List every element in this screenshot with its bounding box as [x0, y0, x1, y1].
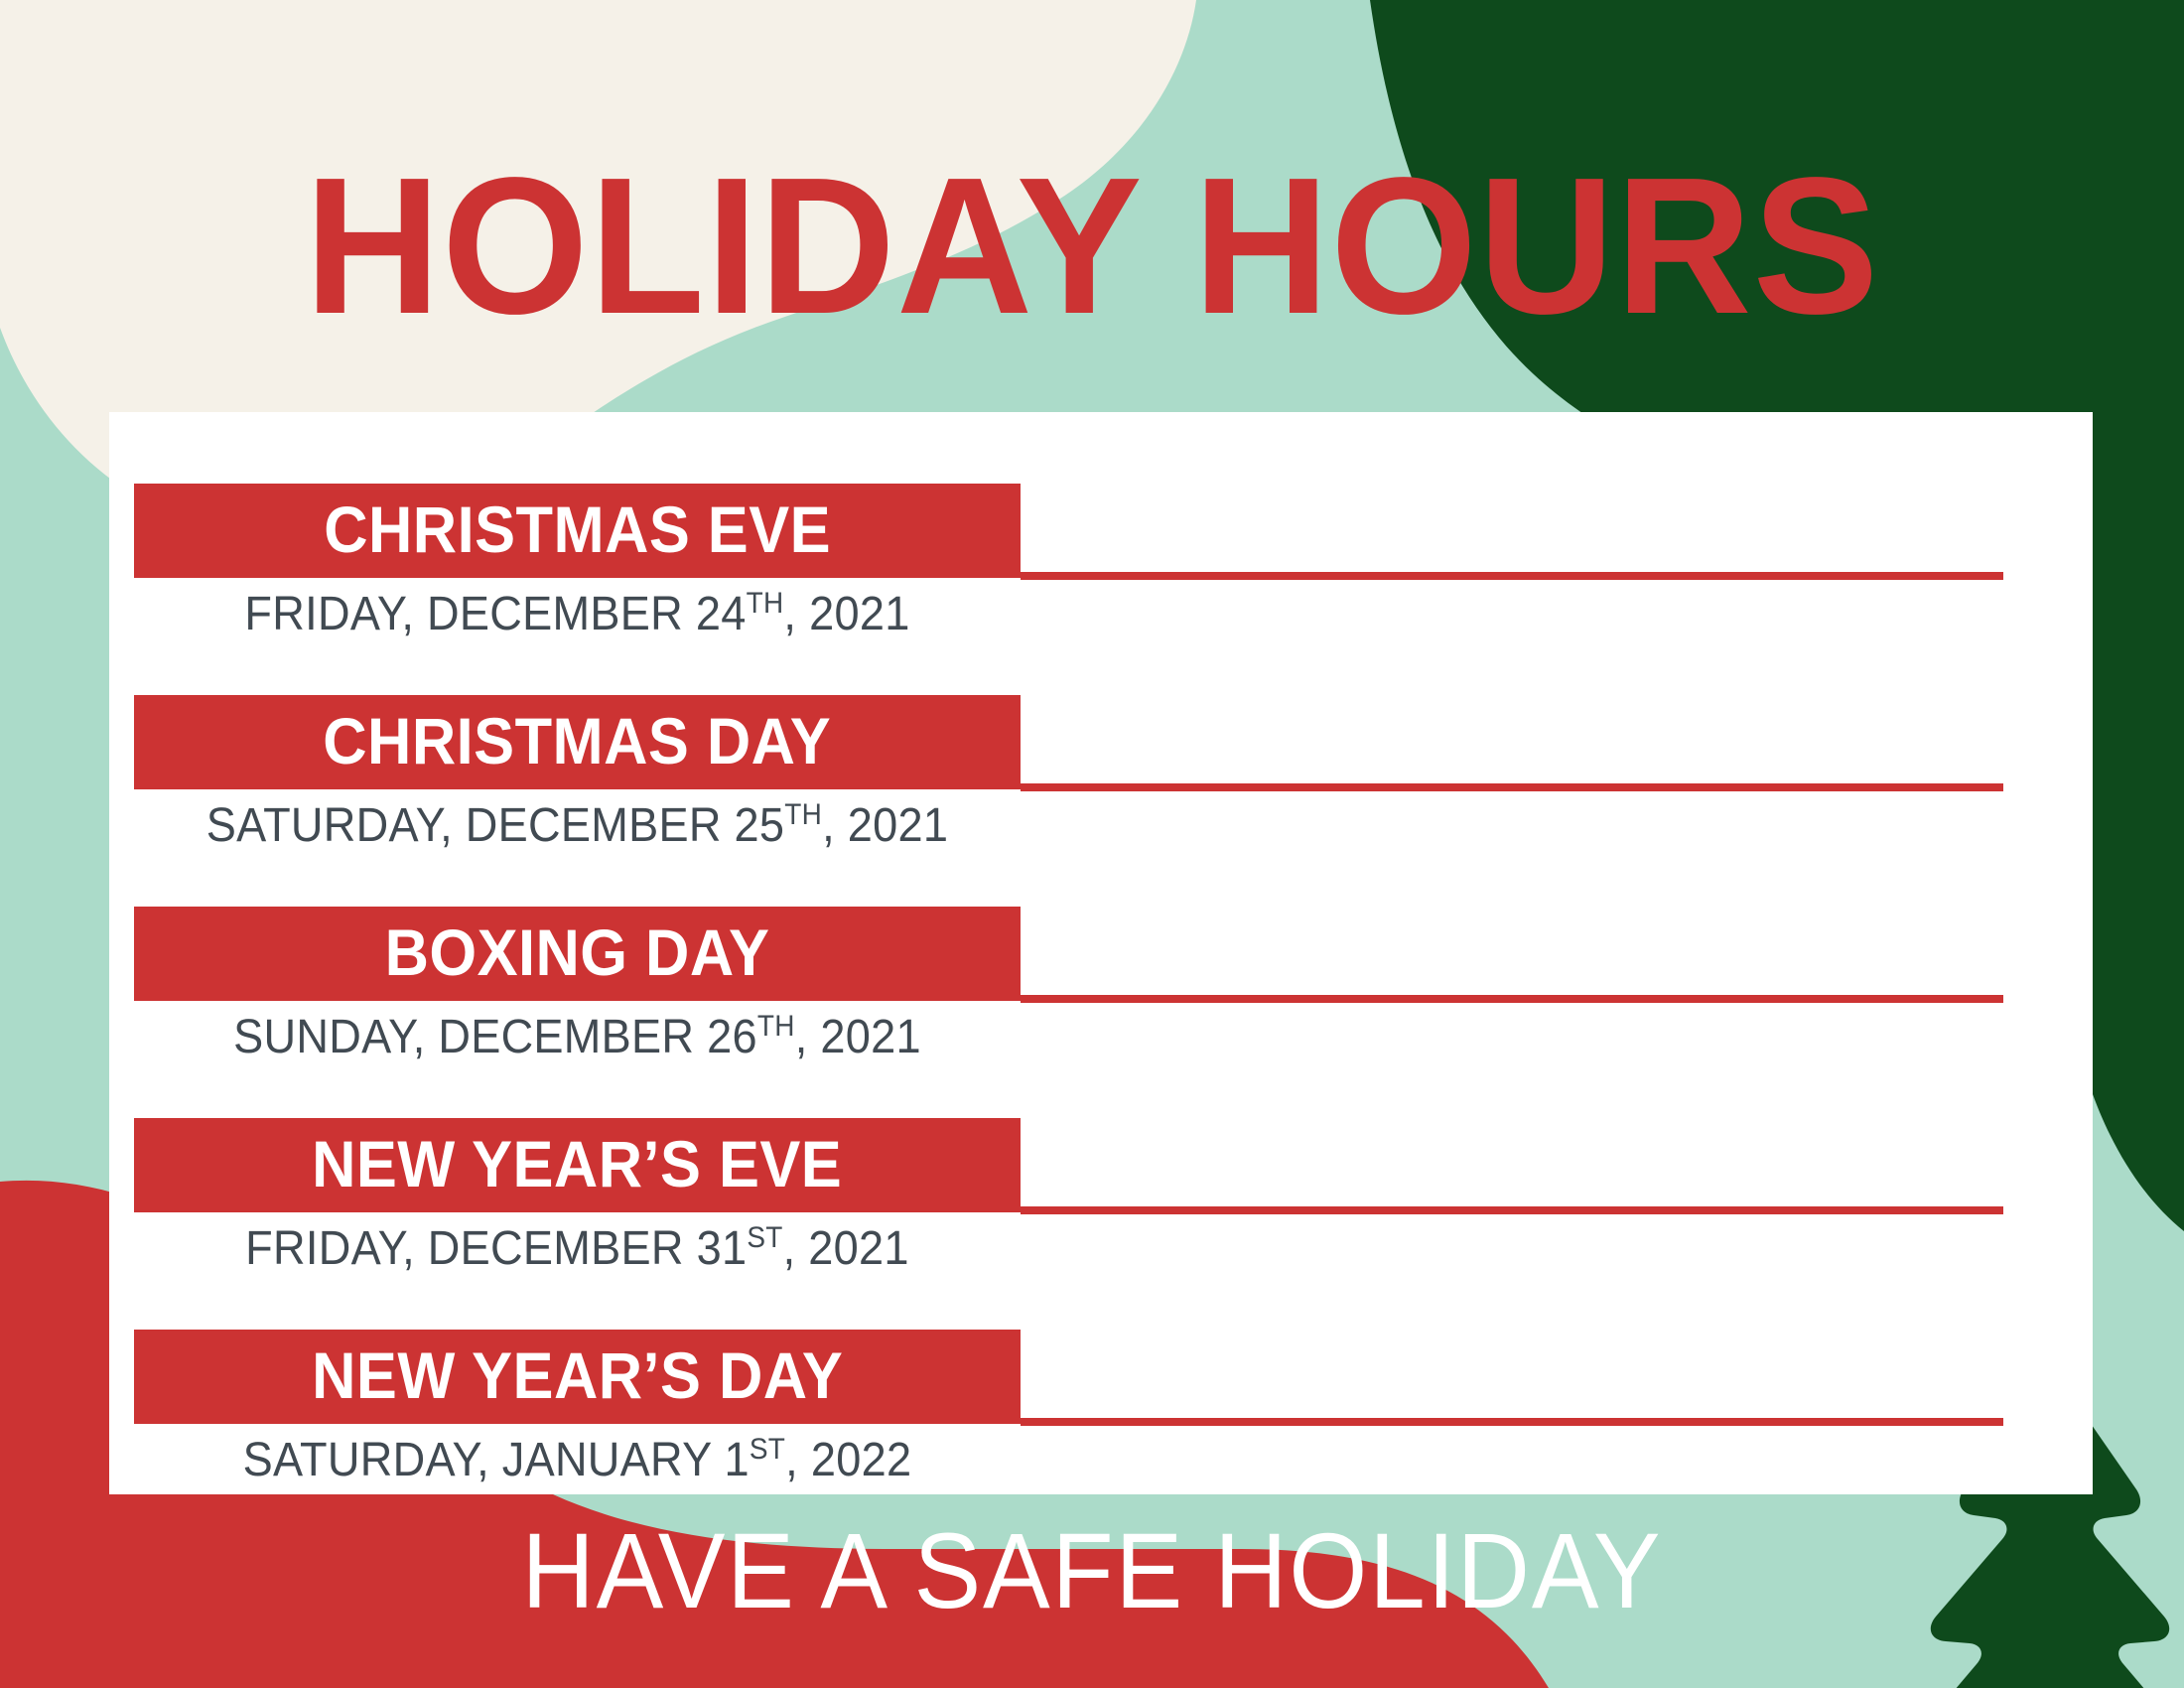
hours-write-in-line — [1021, 783, 2003, 791]
holiday-banner: CHRISTMAS DAY — [134, 695, 1021, 789]
holiday-date-ordinal: ST — [750, 1433, 785, 1466]
holiday-banner: NEW YEAR’S EVE — [134, 1118, 1021, 1212]
holiday-date-prefix: SATURDAY, DECEMBER 25 — [206, 799, 785, 852]
holiday-banner: BOXING DAY — [134, 907, 1021, 1001]
page-title: HOLIDAY HOURS — [33, 149, 2151, 344]
holiday-date-prefix: FRIDAY, DECEMBER 31 — [245, 1222, 747, 1275]
hours-write-in-line — [1021, 572, 2003, 580]
holiday-name: CHRISTMAS DAY — [324, 708, 832, 774]
holiday-date-suffix: , 2021 — [783, 588, 909, 640]
holiday-banner: CHRISTMAS EVE — [134, 484, 1021, 578]
holiday-name: BOXING DAY — [385, 919, 770, 985]
holiday-date-suffix: , 2021 — [783, 1222, 909, 1275]
holiday-name: NEW YEAR’S EVE — [312, 1131, 842, 1196]
tagline: HAVE A SAFE HOLIDAY — [66, 1517, 2118, 1624]
holiday-date-prefix: SUNDAY, DECEMBER 26 — [233, 1011, 757, 1063]
holiday-date-prefix: SATURDAY, JANUARY 1 — [243, 1434, 750, 1486]
holiday-date: FRIDAY, DECEMBER 31ST, 2021 — [161, 1221, 994, 1276]
holiday-date-ordinal: TH — [757, 1010, 795, 1043]
hours-write-in-line — [1021, 1418, 2003, 1426]
holiday-hours-poster: HOLIDAY HOURS CHRISTMAS EVE FRIDAY, DECE… — [0, 0, 2184, 1688]
holiday-date: FRIDAY, DECEMBER 24TH, 2021 — [161, 587, 994, 641]
holiday-date-suffix: , 2021 — [795, 1011, 921, 1063]
holiday-date-ordinal: ST — [747, 1221, 782, 1254]
holiday-date-ordinal: TH — [784, 798, 822, 831]
holiday-date: SATURDAY, DECEMBER 25TH, 2021 — [161, 798, 994, 853]
holiday-date-suffix: , 2021 — [822, 799, 948, 852]
holiday-date-prefix: FRIDAY, DECEMBER 24 — [244, 588, 746, 640]
holiday-name: CHRISTMAS EVE — [324, 496, 831, 562]
hours-write-in-line — [1021, 1206, 2003, 1214]
holiday-date-ordinal: TH — [747, 587, 784, 620]
holiday-date-suffix: , 2022 — [785, 1434, 911, 1486]
holiday-date: SUNDAY, DECEMBER 26TH, 2021 — [161, 1010, 994, 1064]
holiday-banner: NEW YEAR’S DAY — [134, 1330, 1021, 1424]
holiday-date: SATURDAY, JANUARY 1ST, 2022 — [161, 1433, 994, 1487]
hours-write-in-line — [1021, 995, 2003, 1003]
schedule-card: CHRISTMAS EVE FRIDAY, DECEMBER 24TH, 202… — [109, 412, 2093, 1494]
holiday-name: NEW YEAR’S DAY — [312, 1342, 843, 1408]
schedule-rows: CHRISTMAS EVE FRIDAY, DECEMBER 24TH, 202… — [109, 412, 2093, 1494]
